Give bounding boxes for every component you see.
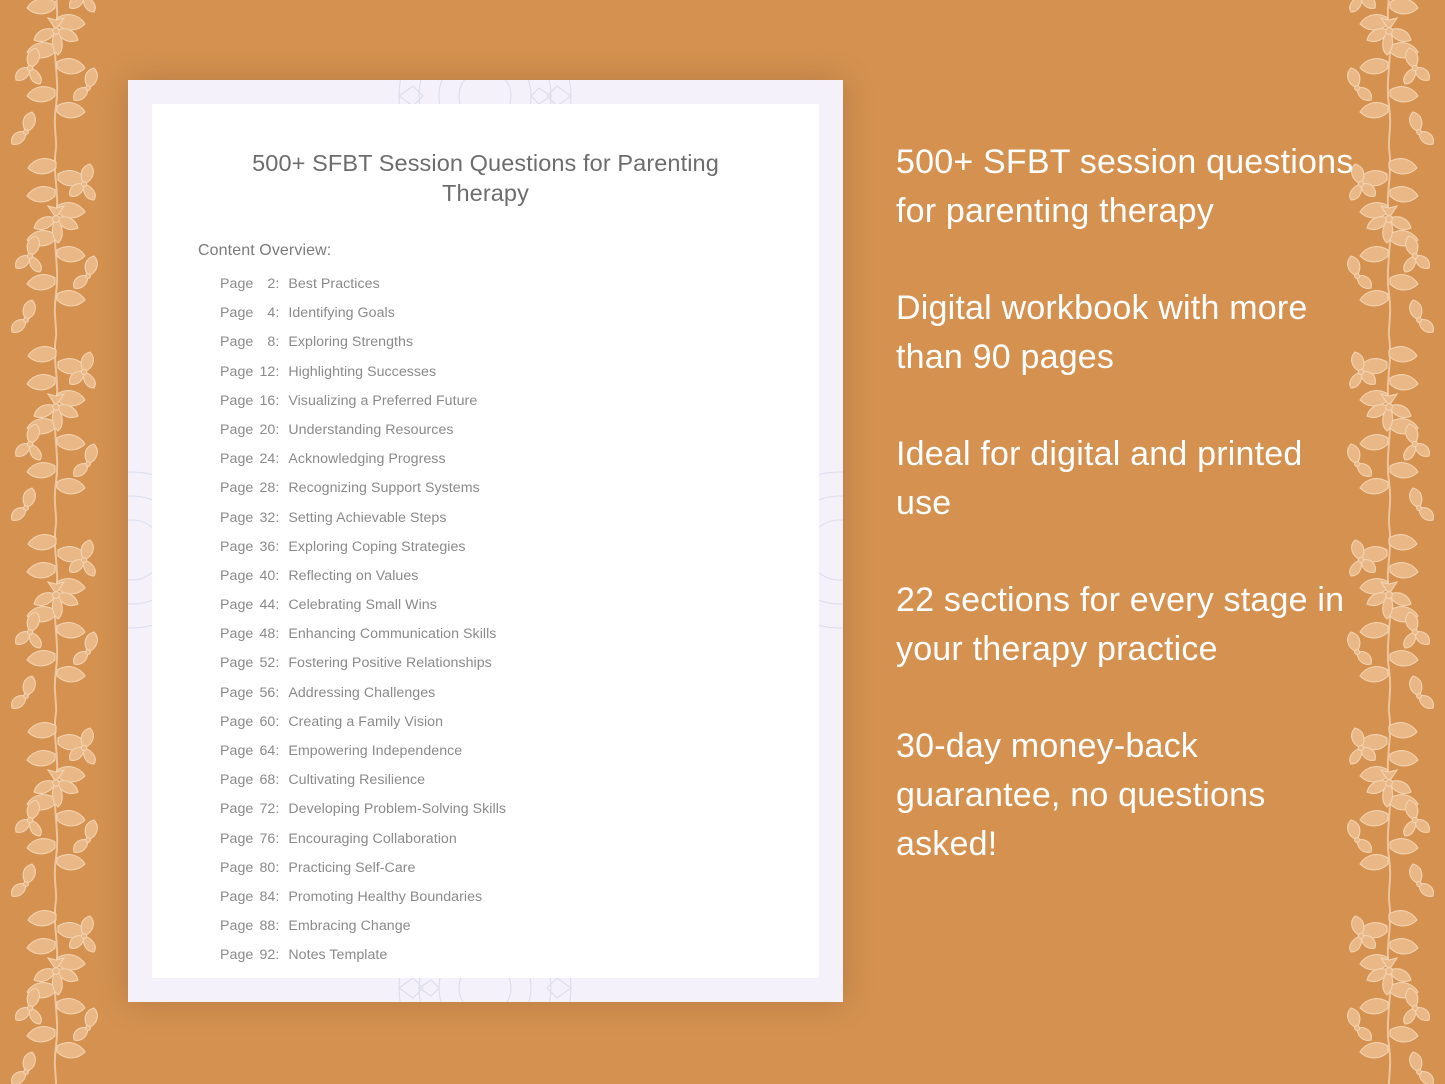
toc-page-number: 56 [253,685,275,701]
table-of-contents-row[interactable]: Page 92:Notes Template [220,947,819,976]
toc-colon: : [275,889,288,905]
toc-colon: : [275,860,288,876]
promo-feature-item: Ideal for digital and printed use [896,430,1366,528]
table-of-contents: Page 2:Best PracticesPage 4:Identifying … [152,260,819,977]
toc-colon: : [275,743,288,759]
content-overview-label: Content Overview: [152,208,819,260]
toc-page-number: 36 [253,539,275,555]
toc-section-title: Celebrating Small Wins [288,597,437,613]
toc-page-word: Page [220,918,253,934]
floral-vine-pattern-left [0,0,112,1084]
toc-colon: : [275,393,288,409]
toc-colon: : [275,597,288,613]
toc-page-number: 16 [253,393,275,409]
table-of-contents-row[interactable]: Page 40:Reflecting on Values [220,568,819,597]
toc-colon: : [275,364,288,380]
toc-section-title: Creating a Family Vision [288,714,443,730]
toc-page-number: 24 [253,451,275,467]
toc-colon: : [275,626,288,642]
toc-section-title: Encouraging Collaboration [288,831,456,847]
table-of-contents-row[interactable]: Page 2:Best Practices [220,276,819,305]
floral-vine-icon [0,900,112,1084]
table-of-contents-row[interactable]: Page 24:Acknowledging Progress [220,451,819,480]
floral-vine-icon [0,148,112,336]
toc-page-word: Page [220,889,253,905]
toc-section-title: Fostering Positive Relationships [288,655,491,671]
promo-feature-item: 22 sections for every stage in your ther… [896,576,1366,674]
table-of-contents-row[interactable]: Page 60:Creating a Family Vision [220,714,819,743]
toc-page-word: Page [220,947,253,963]
floral-vine-icon [0,712,112,900]
table-of-contents-row[interactable]: Page 28:Recognizing Support Systems [220,480,819,509]
toc-page-word: Page [220,364,253,380]
floral-vine-icon [0,0,112,148]
toc-section-title: Reflecting on Values [288,568,418,584]
toc-page-number: 28 [253,480,275,496]
toc-section-title: Identifying Goals [288,305,395,321]
toc-page-word: Page [220,451,253,467]
toc-section-title: Developing Problem-Solving Skills [288,801,506,817]
table-of-contents-row[interactable]: Page 48:Enhancing Communication Skills [220,626,819,655]
toc-page-word: Page [220,714,253,730]
table-of-contents-row[interactable]: Page 72:Developing Problem-Solving Skill… [220,801,819,830]
toc-colon: : [275,510,288,526]
toc-page-number: 60 [253,714,275,730]
toc-page-word: Page [220,626,253,642]
page-title: 500+ SFBT Session Questions for Parentin… [152,104,819,208]
toc-page-word: Page [220,685,253,701]
toc-page-number: 84 [253,889,275,905]
toc-page-number: 48 [253,626,275,642]
toc-section-title: Recognizing Support Systems [288,480,479,496]
toc-page-number: 12 [253,364,275,380]
toc-colon: : [275,685,288,701]
table-of-contents-row[interactable]: Page 56:Addressing Challenges [220,685,819,714]
toc-page-number: 52 [253,655,275,671]
table-of-contents-row[interactable]: Page 36:Exploring Coping Strategies [220,539,819,568]
toc-section-title: Empowering Independence [288,743,462,759]
toc-page-word: Page [220,743,253,759]
table-of-contents-row[interactable]: Page 4:Identifying Goals [220,305,819,334]
toc-page-number: 72 [253,801,275,817]
table-of-contents-row[interactable]: Page 32:Setting Achievable Steps [220,510,819,539]
promo-feature-list: 500+ SFBT session questions for parentin… [896,138,1366,869]
toc-page-word: Page [220,422,253,438]
toc-section-title: Setting Achievable Steps [288,510,446,526]
toc-page-word: Page [220,772,253,788]
toc-page-number: 44 [253,597,275,613]
floral-vine-icon [1333,900,1445,1084]
table-of-contents-row[interactable]: Page 44:Celebrating Small Wins [220,597,819,626]
toc-colon: : [275,334,288,350]
document-preview-card[interactable]: 500+ SFBT Session Questions for Parentin… [128,80,843,1002]
table-of-contents-row[interactable]: Page 84:Promoting Healthy Boundaries [220,889,819,918]
toc-colon: : [275,831,288,847]
toc-page-number: 80 [253,860,275,876]
document-page: 500+ SFBT Session Questions for Parentin… [152,104,819,978]
toc-section-title: Exploring Coping Strategies [288,539,465,555]
toc-colon: : [275,772,288,788]
toc-page-word: Page [220,801,253,817]
toc-colon: : [275,276,288,292]
toc-colon: : [275,451,288,467]
toc-colon: : [275,714,288,730]
toc-colon: : [275,539,288,555]
toc-page-word: Page [220,480,253,496]
promo-feature-item: 500+ SFBT session questions for parentin… [896,138,1366,236]
promo-feature-item: 30-day money-back guarantee, no question… [896,722,1366,869]
toc-section-title: Promoting Healthy Boundaries [288,889,482,905]
toc-page-word: Page [220,334,253,350]
table-of-contents-row[interactable]: Page 68:Cultivating Resilience [220,772,819,801]
toc-page-number: 68 [253,772,275,788]
toc-page-word: Page [220,597,253,613]
toc-section-title: Acknowledging Progress [288,451,445,467]
toc-page-number: 32 [253,510,275,526]
toc-page-number: 20 [253,422,275,438]
toc-colon: : [275,655,288,671]
table-of-contents-row[interactable]: Page 52:Fostering Positive Relationships [220,655,819,684]
floral-border-left [0,0,112,1084]
floral-vine-icon [0,524,112,712]
toc-page-number: 2 [253,276,275,292]
floral-vine-icon [0,336,112,524]
table-of-contents-row[interactable]: Page 64:Empowering Independence [220,743,819,772]
promo-feature-item: Digital workbook with more than 90 pages [896,284,1366,382]
toc-page-number: 8 [253,334,275,350]
toc-section-title: Notes Template [288,947,387,963]
toc-colon: : [275,801,288,817]
toc-colon: : [275,918,288,934]
toc-section-title: Practicing Self-Care [288,860,415,876]
toc-page-number: 40 [253,568,275,584]
table-of-contents-row[interactable]: Page 76:Encouraging Collaboration [220,831,819,860]
table-of-contents-row[interactable]: Page 12:Highlighting Successes [220,364,819,393]
toc-section-title: Exploring Strengths [288,334,413,350]
toc-page-number: 92 [253,947,275,963]
table-of-contents-row[interactable]: Page 80:Practicing Self-Care [220,860,819,889]
table-of-contents-row[interactable]: Page 8:Exploring Strengths [220,334,819,363]
toc-colon: : [275,422,288,438]
toc-section-title: Addressing Challenges [288,685,435,701]
toc-colon: : [275,947,288,963]
toc-section-title: Visualizing a Preferred Future [288,393,477,409]
toc-page-word: Page [220,393,253,409]
toc-page-word: Page [220,860,253,876]
toc-colon: : [275,305,288,321]
toc-page-word: Page [220,568,253,584]
toc-section-title: Embracing Change [288,918,410,934]
toc-section-title: Enhancing Communication Skills [288,626,496,642]
floral-vine-icon [1333,0,1445,148]
toc-page-word: Page [220,655,253,671]
toc-page-number: 64 [253,743,275,759]
toc-page-word: Page [220,831,253,847]
table-of-contents-row[interactable]: Page 16:Visualizing a Preferred Future [220,393,819,422]
toc-page-word: Page [220,510,253,526]
toc-section-title: Understanding Resources [288,422,453,438]
toc-page-number: 88 [253,918,275,934]
toc-section-title: Best Practices [288,276,379,292]
toc-page-word: Page [220,276,253,292]
toc-page-number: 76 [253,831,275,847]
toc-section-title: Highlighting Successes [288,364,436,380]
table-of-contents-row[interactable]: Page 88:Embracing Change [220,918,819,947]
toc-page-word: Page [220,539,253,555]
toc-section-title: Cultivating Resilience [288,772,425,788]
table-of-contents-row[interactable]: Page 20:Understanding Resources [220,422,819,451]
toc-page-number: 4 [253,305,275,321]
toc-colon: : [275,480,288,496]
toc-page-word: Page [220,305,253,321]
toc-colon: : [275,568,288,584]
